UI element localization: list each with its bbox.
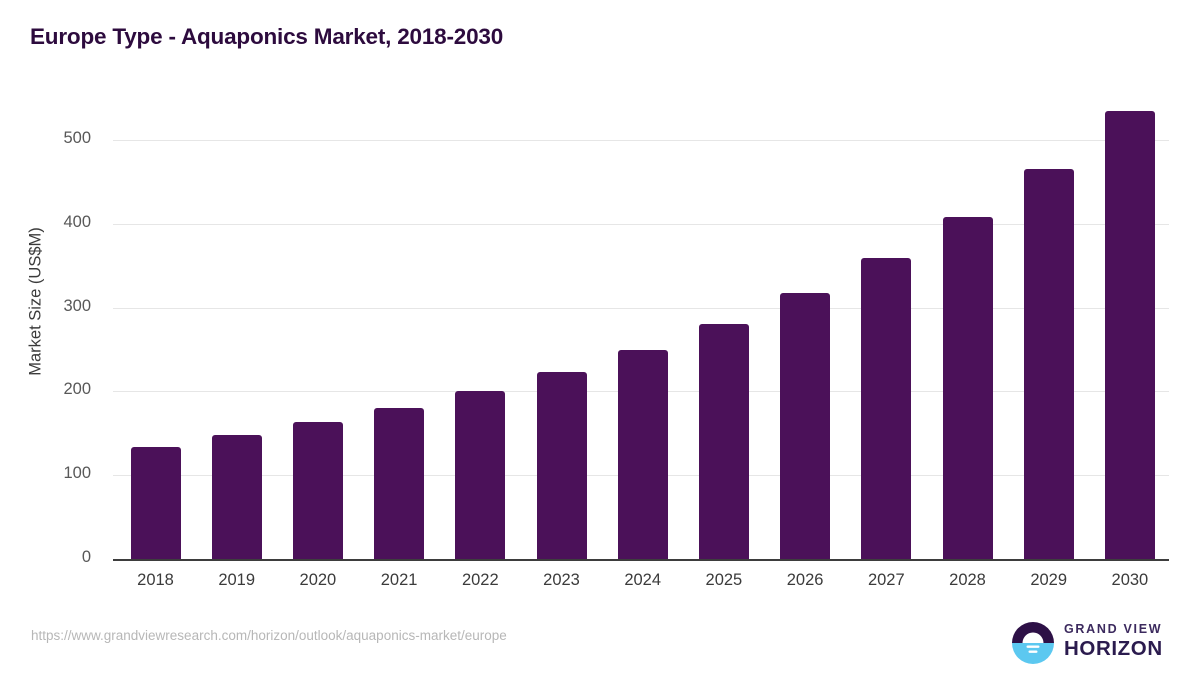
bar-2030[interactable] bbox=[1105, 111, 1155, 559]
logo-line-1: GRAND VIEW bbox=[1064, 621, 1164, 637]
bar-2023[interactable] bbox=[537, 372, 587, 559]
bar-2022[interactable] bbox=[455, 391, 505, 559]
y-axis-tick-label: 500 bbox=[0, 129, 91, 148]
y-axis-tick-label: 400 bbox=[0, 213, 91, 232]
bar-2021[interactable] bbox=[374, 408, 424, 559]
gridline bbox=[113, 140, 1169, 141]
bar-2018[interactable] bbox=[131, 447, 181, 559]
x-axis-tick-label-2027: 2027 bbox=[846, 571, 926, 590]
logo-wordmark: GRAND VIEW HORIZON bbox=[1064, 621, 1164, 661]
bar-2020[interactable] bbox=[293, 422, 343, 559]
bar-2028[interactable] bbox=[943, 217, 993, 559]
x-axis-tick-label-2018: 2018 bbox=[116, 571, 196, 590]
gridline bbox=[113, 224, 1169, 225]
x-axis-tick-label-2024: 2024 bbox=[603, 571, 683, 590]
brand-logo[interactable]: GRAND VIEW HORIZON bbox=[1012, 620, 1164, 666]
y-axis-tick-label: 200 bbox=[0, 380, 91, 399]
gridline bbox=[113, 308, 1169, 309]
x-axis-baseline bbox=[113, 559, 1169, 561]
x-axis-tick-label-2029: 2029 bbox=[1009, 571, 1089, 590]
x-axis-tick-label-2030: 2030 bbox=[1090, 571, 1170, 590]
x-axis-tick-label-2022: 2022 bbox=[440, 571, 520, 590]
bar-2025[interactable] bbox=[699, 324, 749, 559]
x-axis-tick-label-2028: 2028 bbox=[928, 571, 1008, 590]
source-url[interactable]: https://www.grandviewresearch.com/horizo… bbox=[31, 628, 507, 643]
x-axis-tick-label-2021: 2021 bbox=[359, 571, 439, 590]
y-axis-tick-label: 0 bbox=[0, 548, 91, 567]
x-axis-tick-label-2025: 2025 bbox=[684, 571, 764, 590]
bar-2024[interactable] bbox=[618, 350, 668, 559]
x-axis-tick-label-2020: 2020 bbox=[278, 571, 358, 590]
y-axis-tick-label: 100 bbox=[0, 464, 91, 483]
logo-line-2: HORIZON bbox=[1064, 637, 1164, 661]
bar-2029[interactable] bbox=[1024, 169, 1074, 559]
chart-page: Europe Type - Aquaponics Market, 2018-20… bbox=[0, 0, 1200, 675]
horizon-logo-icon bbox=[1012, 622, 1054, 664]
bar-2019[interactable] bbox=[212, 435, 262, 559]
bar-2027[interactable] bbox=[861, 258, 911, 559]
bar-2026[interactable] bbox=[780, 293, 830, 559]
y-axis-tick-label: 300 bbox=[0, 297, 91, 316]
x-axis-tick-label-2026: 2026 bbox=[765, 571, 845, 590]
chart-plot-area: Market Size (US$M) 0100200300400500 2018… bbox=[0, 0, 1200, 675]
x-axis-tick-label-2023: 2023 bbox=[522, 571, 602, 590]
x-axis-tick-label-2019: 2019 bbox=[197, 571, 277, 590]
